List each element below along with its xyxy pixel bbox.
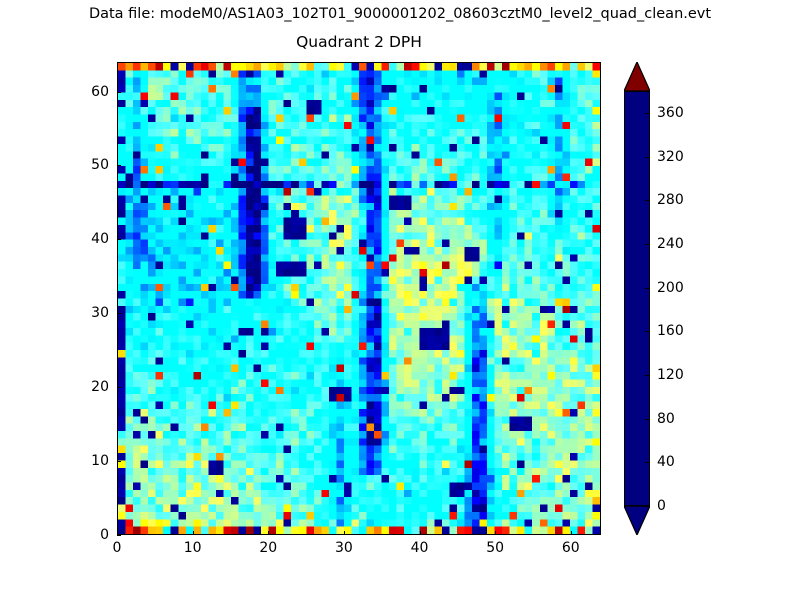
- page-title: Quadrant 2 DPH: [117, 33, 601, 51]
- y-tick-mark: [117, 239, 121, 240]
- x-tick-mark: [495, 531, 496, 535]
- y-tick-label: 40: [77, 231, 109, 247]
- x-tick-label: 0: [113, 540, 122, 556]
- colorbar-tick-mark: [645, 244, 650, 245]
- colorbar-tick-label: 200: [657, 280, 684, 296]
- heatmap-axes[interactable]: [117, 62, 601, 535]
- y-tick-mark: [117, 313, 121, 314]
- y-tick-mark: [117, 387, 121, 388]
- colorbar-tick-label: 280: [657, 192, 684, 208]
- colorbar-tick-label: 360: [657, 105, 684, 121]
- x-tick-label: 10: [184, 540, 202, 556]
- x-tick-label: 20: [259, 540, 277, 556]
- y-tick-label: 20: [77, 379, 109, 395]
- colorbar-tick-mark: [645, 200, 650, 201]
- colorbar-tick-label: 320: [657, 149, 684, 165]
- x-tick-label: 30: [335, 540, 353, 556]
- colorbar-tick-label: 0: [657, 498, 666, 514]
- colorbar-tick-mark: [645, 113, 650, 114]
- y-tick-mark: [117, 461, 121, 462]
- colorbar-gradient: [625, 92, 649, 505]
- y-tick-label: 10: [77, 453, 109, 469]
- colorbar-extend-min-arrow-icon: [624, 506, 650, 535]
- colorbar-tick-label: 80: [657, 411, 675, 427]
- colorbar-tick-mark: [645, 331, 650, 332]
- colorbar-tick-label: 240: [657, 236, 684, 252]
- heatmap-image: [118, 63, 600, 534]
- y-tick-label: 60: [77, 84, 109, 100]
- colorbar-tick-mark: [645, 157, 650, 158]
- x-tick-label: 50: [486, 540, 504, 556]
- colorbar[interactable]: 04080120160200240280320360: [624, 62, 704, 535]
- data-file-label: Data file: modeM0/AS1A03_102T01_90000012…: [0, 6, 800, 22]
- colorbar-tick-mark: [645, 419, 650, 420]
- y-tick-mark: [117, 535, 121, 536]
- x-tick-mark: [420, 531, 421, 535]
- colorbar-tick-mark: [645, 462, 650, 463]
- y-tick-mark: [117, 92, 121, 93]
- colorbar-tick-label: 120: [657, 367, 684, 383]
- colorbar-scale: [624, 91, 650, 506]
- figure-canvas: Data file: modeM0/AS1A03_102T01_90000012…: [0, 0, 800, 600]
- x-tick-mark: [344, 531, 345, 535]
- colorbar-tick-mark: [645, 375, 650, 376]
- x-tick-mark: [268, 531, 269, 535]
- colorbar-tick-label: 40: [657, 454, 675, 470]
- x-tick-mark: [571, 531, 572, 535]
- y-tick-label: 30: [77, 305, 109, 321]
- colorbar-tick-mark: [645, 506, 650, 507]
- x-tick-mark: [193, 531, 194, 535]
- x-tick-label: 40: [411, 540, 429, 556]
- y-tick-label: 50: [77, 157, 109, 173]
- y-tick-label: 0: [77, 527, 109, 543]
- colorbar-tick-mark: [645, 288, 650, 289]
- y-tick-mark: [117, 165, 121, 166]
- colorbar-tick-label: 160: [657, 323, 684, 339]
- colorbar-extend-max-arrow-icon: [624, 62, 650, 91]
- x-tick-label: 60: [562, 540, 580, 556]
